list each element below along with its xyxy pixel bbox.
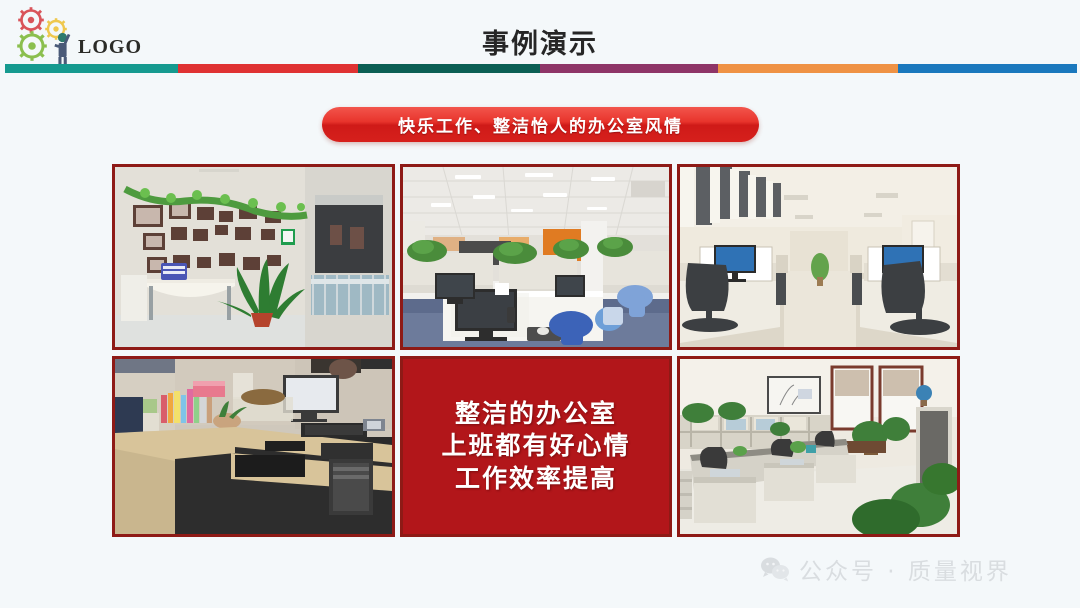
- wechat-icon: [760, 556, 790, 582]
- divider-segment-4: [540, 64, 718, 73]
- photo-image: [403, 167, 669, 347]
- divider-segment-5: [718, 64, 898, 73]
- divider-segment-2: [178, 64, 358, 73]
- slogan-line-3: 工作效率提高: [455, 463, 617, 496]
- slogan-panel: 整洁的办公室 上班都有好心情 工作效率提高: [400, 356, 672, 537]
- slide-header: LOGO 事例演示: [0, 0, 1080, 72]
- section-banner: 快乐工作、整洁怡人的办公室风情: [322, 107, 759, 142]
- photo-office-aisle-workstations[interactable]: [677, 164, 960, 350]
- photo-desk-closeup[interactable]: [112, 356, 395, 537]
- slogan-line-1: 整洁的办公室: [455, 398, 617, 431]
- divider-segment-3: [358, 64, 540, 73]
- watermark: 公众号 · 质量视界: [760, 552, 1012, 586]
- slide: LOGO 事例演示 快乐工作、整洁怡人的办公室风情: [0, 0, 1080, 608]
- photo-grid: 整洁的办公室 上班都有好心情 工作效率提高: [112, 164, 967, 542]
- divider-segment-1: [5, 64, 178, 73]
- header-color-divider: [5, 64, 1077, 73]
- photo-image: [115, 167, 392, 347]
- page-title: 事例演示: [0, 22, 1080, 61]
- photo-open-office-cubicles[interactable]: [400, 164, 672, 350]
- photo-corridor-photowall[interactable]: [112, 164, 395, 350]
- watermark-text: 公众号 · 质量视界: [799, 552, 1012, 586]
- slogan-line-2: 上班都有好心情: [441, 430, 630, 463]
- photo-image: [680, 359, 957, 534]
- section-banner-text: 快乐工作、整洁怡人的办公室风情: [398, 112, 683, 137]
- divider-segment-6: [898, 64, 1077, 73]
- photo-image: [115, 359, 392, 534]
- photo-image: [680, 167, 957, 347]
- photo-bright-office-room[interactable]: [677, 356, 960, 537]
